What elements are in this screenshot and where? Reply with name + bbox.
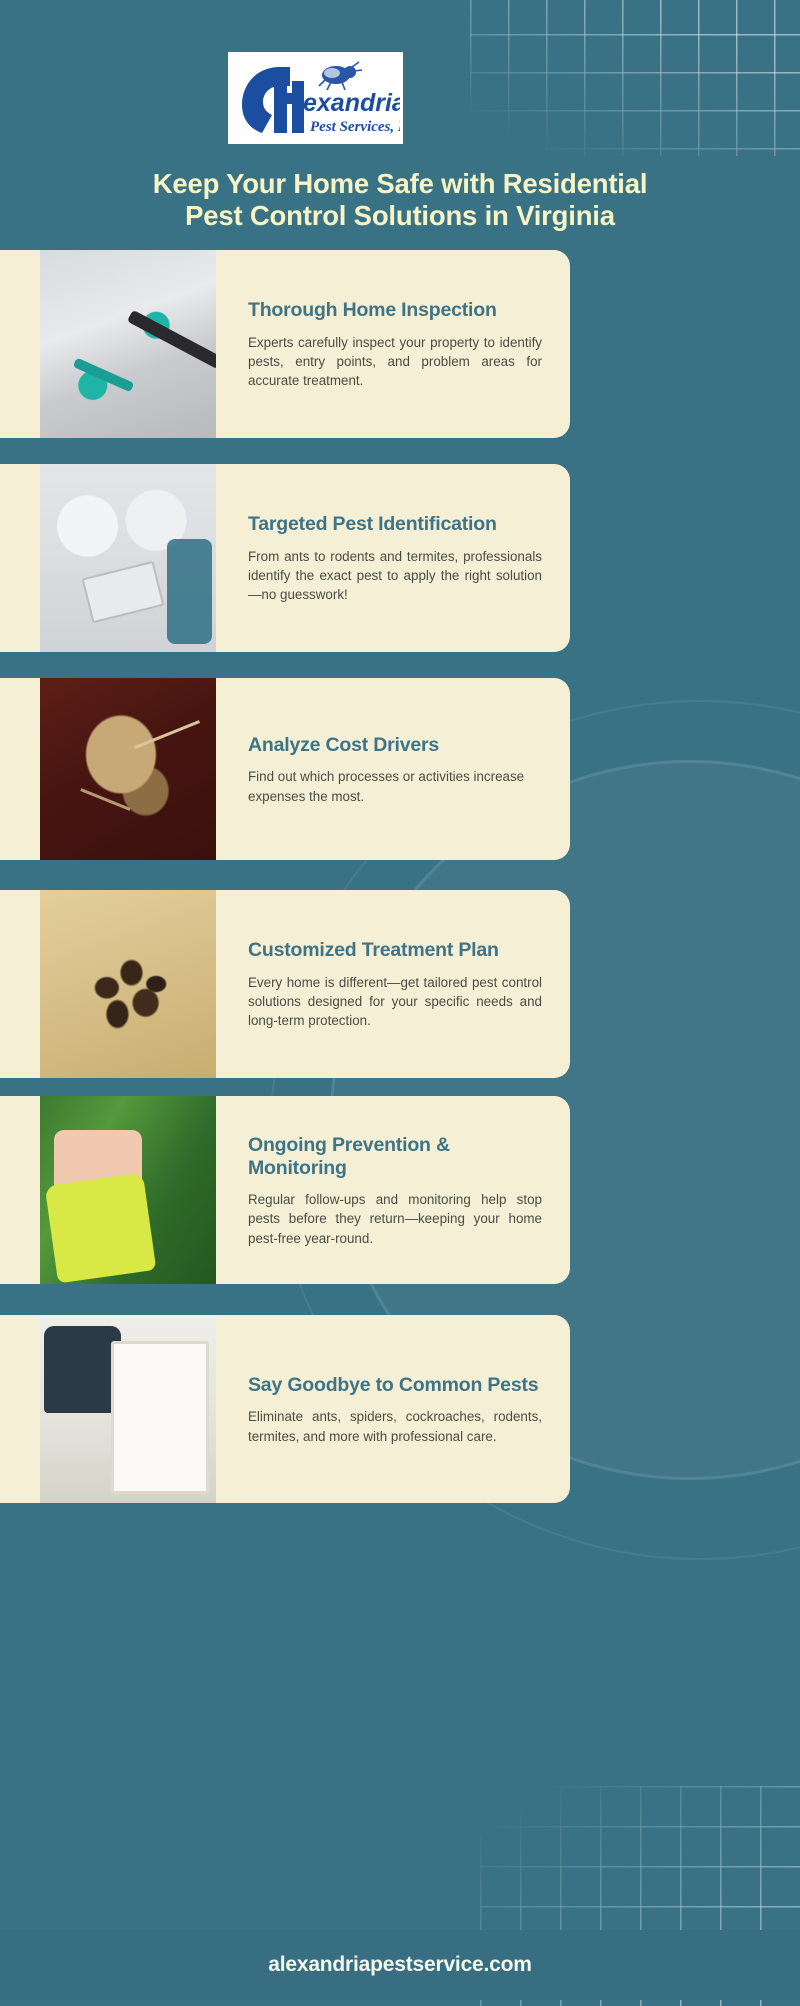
card-body: Say Goodbye to Common Pests Eliminate an… bbox=[216, 1315, 570, 1503]
card-image bbox=[40, 890, 216, 1078]
card-image bbox=[40, 464, 216, 652]
card-title: Customized Treatment Plan bbox=[248, 939, 542, 961]
page-title: Keep Your Home Safe with Residential Pes… bbox=[30, 168, 770, 232]
card-image bbox=[40, 1315, 216, 1503]
card-body: Analyze Cost Drivers Find out which proc… bbox=[216, 678, 570, 860]
alexandria-pest-services-logo-icon: exandria Pest Services, Inc. bbox=[232, 55, 400, 141]
card-image bbox=[40, 678, 216, 860]
feature-card[interactable]: Say Goodbye to Common Pests Eliminate an… bbox=[0, 1315, 570, 1503]
feature-card[interactable]: Thorough Home Inspection Experts careful… bbox=[0, 250, 570, 438]
grid-pattern-top-right bbox=[470, 0, 800, 156]
website-url[interactable]: alexandriapestservice.com bbox=[268, 1953, 532, 1977]
svg-text:Pest Services, Inc.: Pest Services, Inc. bbox=[310, 119, 400, 135]
feature-card[interactable]: Analyze Cost Drivers Find out which proc… bbox=[0, 678, 570, 860]
page-title-line-2: Pest Control Solutions in Virginia bbox=[30, 200, 770, 232]
card-body: Targeted Pest Identification From ants t… bbox=[216, 464, 570, 652]
card-text: Eliminate ants, spiders, cockroaches, ro… bbox=[248, 1407, 542, 1446]
card-title: Thorough Home Inspection bbox=[248, 299, 542, 321]
card-image bbox=[40, 1096, 216, 1284]
card-text: Regular follow-ups and monitoring help s… bbox=[248, 1190, 542, 1248]
card-text: Every home is different—get tailored pes… bbox=[248, 973, 542, 1031]
card-text: Find out which processes or activities i… bbox=[248, 767, 542, 806]
card-text: Experts carefully inspect your property … bbox=[248, 333, 542, 391]
card-title: Targeted Pest Identification bbox=[248, 513, 542, 535]
company-logo: exandria Pest Services, Inc. bbox=[228, 52, 403, 144]
card-title: Analyze Cost Drivers bbox=[248, 734, 542, 756]
svg-text:exandria: exandria bbox=[303, 89, 400, 117]
feature-card[interactable]: Ongoing Prevention & Monitoring Regular … bbox=[0, 1096, 570, 1284]
page-title-line-1: Keep Your Home Safe with Residential bbox=[30, 168, 770, 200]
card-body: Thorough Home Inspection Experts careful… bbox=[216, 250, 570, 438]
footer-bar: alexandriapestservice.com bbox=[0, 1930, 800, 2000]
feature-card[interactable]: Targeted Pest Identification From ants t… bbox=[0, 464, 570, 652]
card-image bbox=[40, 250, 216, 438]
card-body: Ongoing Prevention & Monitoring Regular … bbox=[216, 1096, 570, 1284]
feature-card[interactable]: Customized Treatment Plan Every home is … bbox=[0, 890, 570, 1078]
card-text: From ants to rodents and termites, profe… bbox=[248, 547, 542, 605]
card-title: Ongoing Prevention & Monitoring bbox=[248, 1134, 542, 1179]
card-body: Customized Treatment Plan Every home is … bbox=[216, 890, 570, 1078]
card-title: Say Goodbye to Common Pests bbox=[248, 1374, 542, 1396]
